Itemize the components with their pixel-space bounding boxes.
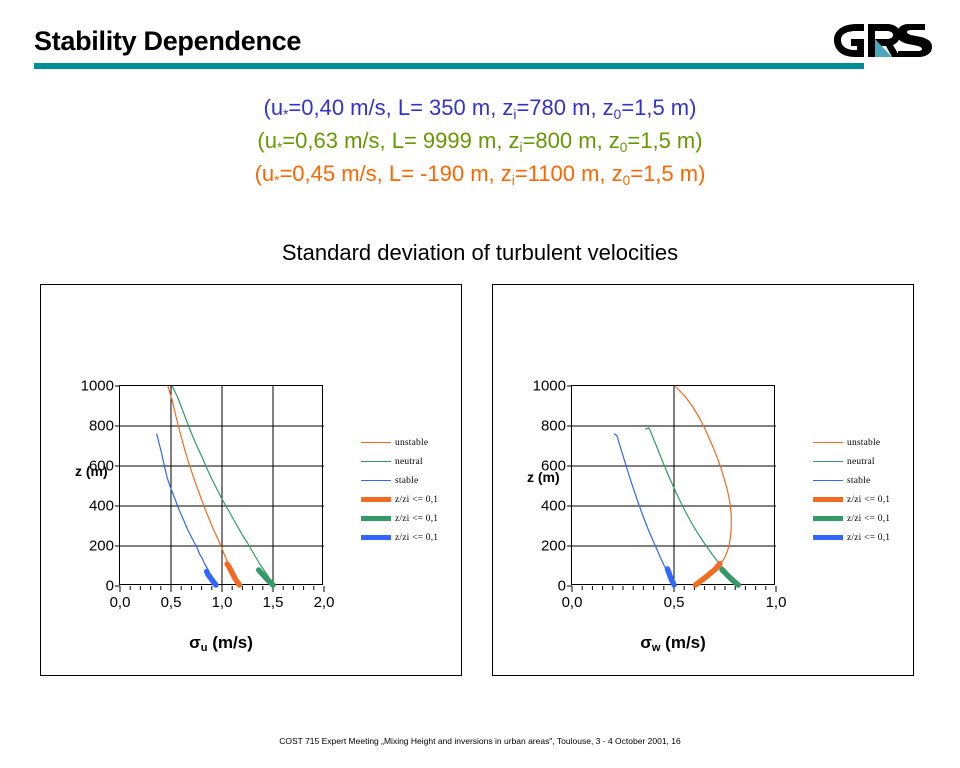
legend-item[interactable]: neutral	[361, 452, 457, 471]
legend-line-swatch	[813, 516, 843, 521]
y-tick-label: 0	[106, 578, 114, 595]
chart-section-title: Standard deviation of turbulent velociti…	[0, 240, 960, 266]
y-tick-label: 200	[541, 538, 566, 555]
param-text: =780 m, z	[516, 95, 613, 120]
legend-label: unstable	[395, 438, 428, 448]
parameter-line-neutral: (u*=0,63 m/s, L= 9999 m, zi=800 m, z0=1,…	[0, 126, 960, 159]
x-axis-title: σu (m/s)	[119, 633, 323, 653]
legend-line-swatch	[813, 480, 843, 482]
param-text: =0,45 m/s, L= -190 m, z	[279, 161, 511, 186]
x-axis-unit: (m/s)	[208, 633, 253, 652]
legend-item[interactable]: z/zi <= 0,1	[361, 509, 457, 528]
plot-area: 020040060080010000,00,51,01,52,0	[119, 385, 323, 585]
legend-label: z/zi <= 0,1	[395, 514, 438, 524]
slide-footer: COST 715 Expert Meeting „Mixing Height a…	[0, 736, 960, 746]
legend-label: neutral	[847, 457, 875, 467]
legend-line-swatch	[361, 497, 391, 502]
param-sub: 0	[623, 173, 631, 188]
y-tick-label: 400	[541, 498, 566, 515]
legend-item[interactable]: stable	[813, 471, 909, 490]
legend-item[interactable]: unstable	[813, 433, 909, 452]
y-tick-label: 1000	[81, 378, 114, 395]
legend-item[interactable]: stable	[361, 471, 457, 490]
x-tick-label: 0,5	[161, 594, 182, 611]
legend-label: z/zi <= 0,1	[847, 533, 890, 543]
series-line	[614, 434, 674, 585]
series-line	[227, 564, 239, 585]
chart-legend: unstableneutralstablez/zi <= 0,1z/zi <= …	[361, 433, 457, 547]
plot-area: 020040060080010000,00,51,0	[571, 385, 775, 585]
legend-label: z/zi <= 0,1	[395, 533, 438, 543]
x-tick-label: 1,0	[212, 594, 233, 611]
legend-item[interactable]: z/zi <= 0,1	[813, 509, 909, 528]
grs-logo	[830, 20, 938, 66]
series-line	[722, 570, 738, 585]
legend-label: stable	[395, 476, 418, 486]
series-line	[168, 386, 239, 585]
param-sub: *	[274, 173, 279, 188]
chart-sigma-u: z (m) 020040060080010000,00,51,01,52,0 σ…	[40, 284, 462, 676]
parameter-line-stable: (u*=0,40 m/s, L= 350 m, zi=780 m, z0=1,5…	[0, 93, 960, 126]
y-tick-label: 600	[541, 458, 566, 475]
param-text: =1,5 m)	[621, 95, 696, 120]
param-text: =800 m, z	[523, 128, 620, 153]
param-sub: *	[277, 140, 282, 155]
page-title: Stability Dependence	[34, 26, 301, 57]
legend-label: z/zi <= 0,1	[395, 495, 438, 505]
param-text: =0,63 m/s, L= 9999 m, z	[282, 128, 519, 153]
legend-line-swatch	[813, 461, 843, 463]
legend-item[interactable]: z/zi <= 0,1	[813, 490, 909, 509]
legend-line-swatch	[361, 516, 391, 521]
plot-svg	[572, 386, 776, 586]
legend-item[interactable]: neutral	[813, 452, 909, 471]
legend-line-swatch	[361, 535, 391, 540]
y-tick-label: 1000	[533, 378, 566, 395]
x-axis-unit: (m/s)	[660, 633, 705, 652]
y-tick-label: 800	[541, 418, 566, 435]
parameter-line-unstable: (u*=0,45 m/s, L= -190 m, zi=1100 m, z0=1…	[0, 159, 960, 192]
legend-line-swatch	[361, 442, 391, 444]
y-tick-label: 600	[89, 458, 114, 475]
legend-line-swatch	[813, 535, 843, 540]
legend-item[interactable]: z/zi <= 0,1	[361, 490, 457, 509]
x-axis-symbol: σ	[189, 633, 201, 652]
series-line	[172, 386, 273, 585]
legend-item[interactable]: unstable	[361, 433, 457, 452]
series-line	[667, 569, 674, 585]
x-tick-label: 0,0	[110, 594, 131, 611]
x-tick-label: 1,0	[766, 594, 787, 611]
legend-line-swatch	[361, 461, 391, 463]
chart-sigma-w: z (m) 020040060080010000,00,51,0 σw (m/s…	[492, 284, 914, 676]
param-text: =1,5 m)	[630, 161, 705, 186]
param-text: (u	[255, 161, 275, 186]
param-sub: i	[513, 107, 516, 122]
legend-line-swatch	[361, 480, 391, 482]
series-line	[675, 386, 731, 585]
legend-label: z/zi <= 0,1	[847, 514, 890, 524]
param-text: =1,5 m)	[627, 128, 702, 153]
chart-legend: unstableneutralstablez/zi <= 0,1z/zi <= …	[813, 433, 909, 547]
x-tick-label: 0,5	[664, 594, 685, 611]
legend-line-swatch	[813, 497, 843, 502]
x-tick-label: 1,5	[263, 594, 284, 611]
legend-label: stable	[847, 476, 870, 486]
series-line	[695, 564, 719, 585]
x-axis-subscript: u	[201, 642, 208, 654]
param-sub: 0	[614, 107, 622, 122]
legend-label: neutral	[395, 457, 423, 467]
x-axis-subscript: w	[652, 642, 661, 654]
title-underline-rule	[34, 63, 864, 69]
x-tick-label: 0,0	[562, 594, 583, 611]
param-sub: 0	[620, 140, 628, 155]
y-tick-label: 800	[89, 418, 114, 435]
plot-svg	[120, 386, 324, 586]
param-text: (u	[264, 95, 284, 120]
param-sub: *	[283, 107, 288, 122]
param-text: (u	[257, 128, 277, 153]
y-tick-label: 400	[89, 498, 114, 515]
param-text: =1100 m, z	[515, 161, 623, 186]
param-sub: i	[520, 140, 523, 155]
x-axis-title: σw (m/s)	[571, 633, 775, 653]
series-line	[207, 572, 216, 585]
y-tick-label: 0	[558, 578, 566, 595]
y-tick-label: 200	[89, 538, 114, 555]
legend-label: unstable	[847, 438, 880, 448]
legend-item[interactable]: z/zi <= 0,1	[813, 528, 909, 547]
param-text: =0,40 m/s, L= 350 m, z	[288, 95, 513, 120]
legend-item[interactable]: z/zi <= 0,1	[361, 528, 457, 547]
legend-line-swatch	[813, 442, 843, 444]
x-axis-symbol: σ	[640, 633, 652, 652]
x-tick-label: 2,0	[314, 594, 335, 611]
param-sub: i	[512, 173, 515, 188]
legend-label: z/zi <= 0,1	[847, 495, 890, 505]
parameter-block: (u*=0,40 m/s, L= 350 m, zi=780 m, z0=1,5…	[0, 93, 960, 192]
